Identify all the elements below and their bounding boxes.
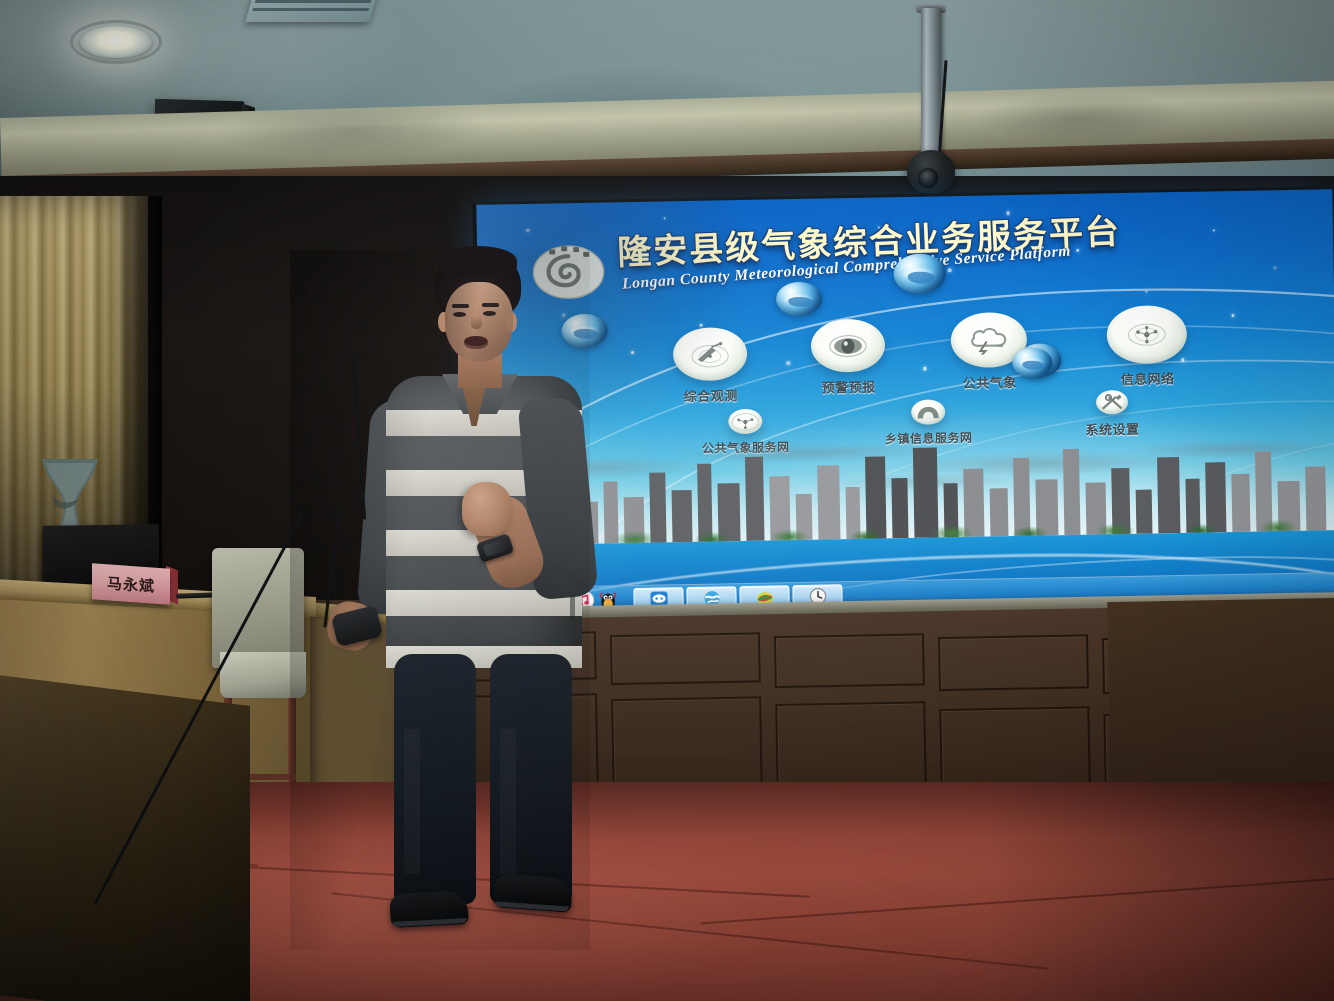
ceiling-vent-icon	[245, 0, 384, 22]
menu-label: 预警预报	[812, 377, 886, 397]
led-display-screen[interactable]: 隆安县级气象综合业务服务平台 Longan County Meteorologi…	[474, 188, 1334, 616]
name-placard: 马永斌	[92, 563, 170, 604]
menu-label: 综合观测	[674, 385, 748, 405]
presenter-raised-fist	[462, 482, 512, 536]
radar-dish-icon	[673, 327, 748, 382]
network-nodes-icon	[1106, 305, 1187, 364]
home-icon	[911, 399, 945, 425]
screen-menu-item-warning-forecast[interactable]: 预警预报	[810, 318, 885, 397]
presenter-leg-left	[394, 654, 476, 904]
screen-menu-item-public-meteorology[interactable]: 公共气象	[950, 312, 1027, 392]
camera-pole	[921, 8, 941, 158]
recessed-downlight-icon	[80, 26, 152, 58]
presenter-leg-right	[490, 654, 572, 904]
screen-menu-item-comprehensive-observation[interactable]: 综合观测	[673, 327, 748, 406]
conference-hall-photo: 隆安县级气象综合业务服务平台 Longan County Meteorologi…	[0, 0, 1334, 1001]
face-shading	[445, 282, 513, 362]
screen-menu-item-information-network[interactable]: 信息网络	[1106, 305, 1187, 388]
wrench-screwdriver-icon	[1096, 390, 1128, 415]
presenter-boot-left	[389, 890, 469, 928]
menu-label: 信息网络	[1107, 367, 1187, 387]
menu-label: 公共气象	[951, 372, 1027, 392]
name-placard-text: 马永斌	[107, 572, 155, 596]
presenter-person	[290, 250, 590, 950]
network-nodes-icon	[728, 409, 762, 435]
foreground-step-shading	[0, 674, 250, 1001]
eye-icon	[810, 318, 885, 373]
presenter-legs	[394, 654, 578, 944]
camera-lens-icon	[918, 168, 938, 188]
